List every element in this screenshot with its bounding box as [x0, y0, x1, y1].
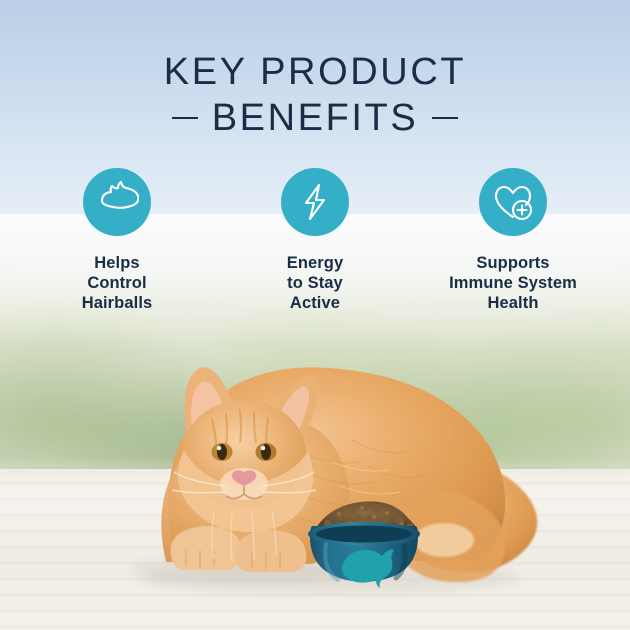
title-line-1: KEY PRODUCT: [0, 50, 630, 94]
hairball-icon-badge: [83, 168, 151, 236]
benefit-label-energy: Energy to Stay Active: [287, 253, 344, 313]
benefits-banner: KEY PRODUCT BENEFITS Helps Control Hairb…: [0, 0, 630, 630]
benefit-label-immune: Supports Immune System Health: [449, 253, 577, 313]
title-dash-right: [432, 117, 458, 119]
benefit-label-hairballs: Helps Control Hairballs: [82, 253, 153, 313]
title-dash-left: [172, 117, 198, 119]
heart-plus-icon: [491, 180, 535, 224]
benefit-item-hairballs: Helps Control Hairballs: [22, 168, 212, 313]
lightning-bolt-icon-badge: [281, 168, 349, 236]
hairball-icon: [95, 180, 139, 224]
lightning-bolt-icon: [295, 182, 335, 222]
benefits-list: Helps Control Hairballs Energy to Stay A…: [22, 168, 608, 313]
benefit-item-energy: Energy to Stay Active: [220, 168, 410, 313]
benefit-item-immune: Supports Immune System Health: [418, 168, 608, 313]
heart-plus-icon-badge: [479, 168, 547, 236]
page-title: KEY PRODUCT BENEFITS: [0, 50, 630, 140]
title-line-2-word: BENEFITS: [212, 96, 419, 140]
title-line-2: BENEFITS: [0, 96, 630, 140]
